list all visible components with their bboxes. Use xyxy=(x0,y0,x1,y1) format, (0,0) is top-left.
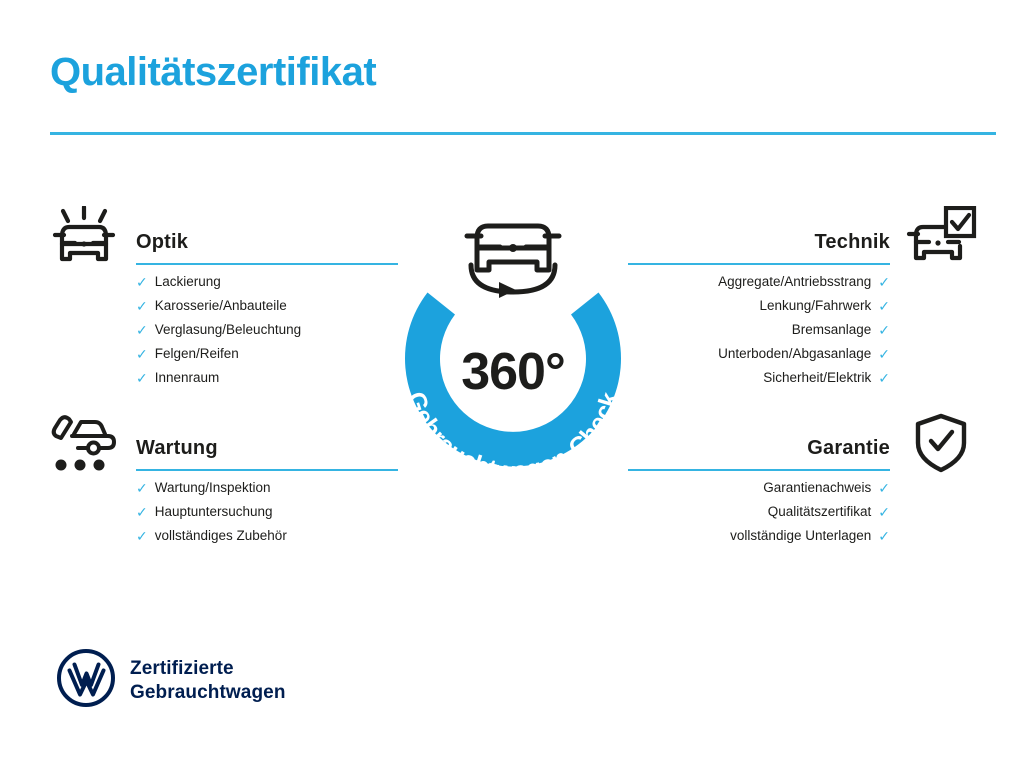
check-icon: ✓ xyxy=(878,505,890,519)
section-technik-underline xyxy=(628,263,890,265)
section-optik-title: Optik xyxy=(136,231,188,254)
section-garantie-title: Garantie xyxy=(807,437,890,460)
section-garantie: Garantie ✓Garantienachweis ✓Qualitätszer… xyxy=(628,410,978,548)
wrench-car-icon xyxy=(48,410,130,476)
list-item: ✓Bremsanlage xyxy=(628,318,978,342)
vw-logo-icon xyxy=(56,648,116,713)
check-icon: ✓ xyxy=(878,481,890,495)
vw-wordmark: Zertifizierte Gebrauchtwagen xyxy=(130,657,286,703)
list-item: ✓Innenraum xyxy=(48,366,398,390)
badge-360-value: 360° xyxy=(372,346,654,398)
section-garantie-list: ✓Garantienachweis ✓Qualitätszertifikat ✓… xyxy=(628,476,978,548)
check-icon: ✓ xyxy=(878,371,890,385)
section-garantie-header: Garantie xyxy=(628,410,978,476)
section-wartung: Wartung ✓Wartung/Inspektion ✓Hauptunters… xyxy=(48,410,398,548)
check-icon: ✓ xyxy=(136,275,148,289)
vw-wordmark-line2: Gebrauchtwagen xyxy=(130,681,286,704)
list-item: ✓Hauptuntersuchung xyxy=(48,500,398,524)
section-optik-underline xyxy=(136,263,398,265)
list-item: ✓Sicherheit/Elektrik xyxy=(628,366,978,390)
header-divider xyxy=(50,132,996,135)
car-checkbox-icon xyxy=(896,204,978,270)
car-rotate-360-icon xyxy=(467,226,559,298)
check-icon: ✓ xyxy=(878,299,890,313)
section-technik-title: Technik xyxy=(815,231,891,254)
check-icon: ✓ xyxy=(878,323,890,337)
section-technik-list: ✓Aggregate/Antriebsstrang ✓Lenkung/Fahrw… xyxy=(628,270,978,390)
car-shine-icon xyxy=(48,204,130,270)
list-item: ✓Unterboden/Abgasanlage xyxy=(628,342,978,366)
badge-360-check: Gebrauchtwagen-Check 360° xyxy=(372,196,654,486)
section-wartung-header: Wartung xyxy=(48,410,398,476)
list-item: ✓vollständige Unterlagen xyxy=(628,524,978,548)
shield-check-icon xyxy=(896,410,978,476)
vw-wordmark-line1: Zertifizierte xyxy=(130,657,286,680)
section-optik-list: ✓Lackierung ✓Karosserie/Anbauteile ✓Verg… xyxy=(48,270,398,390)
list-item: ✓Wartung/Inspektion xyxy=(48,476,398,500)
list-item: ✓Qualitätszertifikat xyxy=(628,500,978,524)
check-icon: ✓ xyxy=(136,299,148,313)
check-icon: ✓ xyxy=(878,275,890,289)
list-item: ✓vollständiges Zubehör xyxy=(48,524,398,548)
check-icon: ✓ xyxy=(136,481,148,495)
section-technik-header: Technik xyxy=(628,204,978,270)
check-icon: ✓ xyxy=(878,347,890,361)
check-icon: ✓ xyxy=(878,529,890,543)
list-item: ✓Lenkung/Fahrwerk xyxy=(628,294,978,318)
list-item: ✓Garantienachweis xyxy=(628,476,978,500)
check-icon: ✓ xyxy=(136,505,148,519)
list-item: ✓Aggregate/Antriebsstrang xyxy=(628,270,978,294)
section-wartung-title: Wartung xyxy=(136,437,218,460)
section-optik-header: Optik xyxy=(48,204,398,270)
section-wartung-underline xyxy=(136,469,398,471)
list-item: ✓Lackierung xyxy=(48,270,398,294)
page-title: Qualitätszertifikat xyxy=(50,50,376,94)
check-icon: ✓ xyxy=(136,323,148,337)
section-technik: Technik ✓Aggregate/Antriebsstrang ✓Lenku… xyxy=(628,204,978,390)
list-item: ✓Karosserie/Anbauteile xyxy=(48,294,398,318)
list-item: ✓Verglasung/Beleuchtung xyxy=(48,318,398,342)
check-icon: ✓ xyxy=(136,529,148,543)
section-optik: Optik ✓Lackierung ✓Karosserie/Anbauteile… xyxy=(48,204,398,390)
list-item: ✓Felgen/Reifen xyxy=(48,342,398,366)
section-wartung-list: ✓Wartung/Inspektion ✓Hauptuntersuchung ✓… xyxy=(48,476,398,548)
vw-brand-lockup: Zertifizierte Gebrauchtwagen xyxy=(56,648,286,713)
check-icon: ✓ xyxy=(136,371,148,385)
section-garantie-underline xyxy=(628,469,890,471)
check-icon: ✓ xyxy=(136,347,148,361)
